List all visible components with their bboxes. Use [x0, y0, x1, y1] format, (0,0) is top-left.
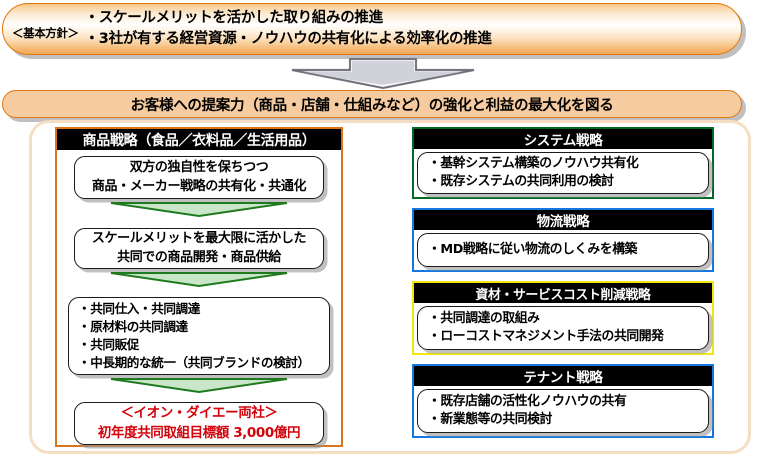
- logistics-strategy-body: ・MD戦略に従い物流のしくみを構築: [414, 230, 712, 270]
- product-strategy-panel: 商品戦略（食品／衣料品／生活用品） 双方の独自性を保ちつつ 商品・メーカー戦略の…: [55, 127, 343, 447]
- basic-policy-bullet-1: ・スケールメリットを活かした取り組みの推進: [85, 9, 741, 28]
- system-strategy-item-2: ・既存システムの共同利用の検討: [428, 173, 708, 191]
- down-arrow-icon: [288, 57, 478, 90]
- diagram-canvas: ＜基本方針＞ ・スケールメリットを活かした取り組みの推進 ・3社が有する経営資源…: [0, 0, 768, 458]
- material-cost-strategy-body: ・共同調達の取組み ・ローコストマネジメント手法の共同開発: [414, 303, 712, 353]
- product-strategy-box-3: ・共同仕入・共同調達 ・原材料の共同調達 ・共同販促 ・中長期的な統一（共同ブラ…: [68, 297, 330, 375]
- product-strategy-box-1-line-1: 双方の独自性を保ちつつ: [130, 159, 269, 177]
- system-strategy-body: ・基幹システム構築のノウハウ共有化 ・既存システムの共同利用の検討: [414, 149, 712, 197]
- goal-banner-text: お客様への提案力（商品・店舗・仕組みなど）の強化と利益の最大化を図る: [131, 94, 614, 115]
- joint-target-box: ＜イオン・ダイエー両社＞ 初年度共同取組目標額 3,000億円: [74, 402, 324, 445]
- system-strategy-item-1: ・基幹システム構築のノウハウ共有化: [428, 155, 708, 173]
- system-strategy-header: システム戦略: [414, 129, 712, 149]
- tenant-strategy-box: テナント戦略 ・既存店舗の活性化ノウハウの共有 ・新業態等の共同検討: [412, 364, 714, 438]
- green-down-arrow-icon-2: [109, 272, 289, 287]
- joint-target-companies: ＜イオン・ダイエー両社＞: [120, 404, 277, 424]
- logistics-strategy-box: 物流戦略 ・MD戦略に従い物流のしくみを構築: [412, 208, 714, 272]
- goal-banner: お客様への提案力（商品・店舗・仕組みなど）の強化と利益の最大化を図る: [2, 90, 742, 118]
- product-strategy-box-3-item-2: ・原材料の共同調達: [78, 318, 329, 336]
- tenant-strategy-list: ・既存店舗の活性化ノウハウの共有 ・新業態等の共同検討: [417, 389, 709, 433]
- product-strategy-header: 商品戦略（食品／衣料品／生活用品）: [57, 129, 341, 150]
- product-strategy-box-2-line-1: スケールメリットを最大限に活かした: [92, 230, 306, 248]
- product-strategy-box-2-line-2: 共同での商品開発・商品供給: [117, 249, 281, 267]
- system-strategy-box: システム戦略 ・基幹システム構築のノウハウ共有化 ・既存システムの共同利用の検討: [412, 127, 714, 199]
- support-strategy-panel: システム戦略 ・基幹システム構築のノウハウ共有化 ・既存システムの共同利用の検討…: [412, 127, 714, 438]
- product-strategy-box-1-line-2: 商品・メーカー戦略の共有化・共通化: [92, 178, 306, 196]
- logistics-strategy-header: 物流戦略: [414, 210, 712, 230]
- system-strategy-list: ・基幹システム構築のノウハウ共有化 ・既存システムの共同利用の検討: [417, 152, 709, 194]
- product-strategy-box-1: 双方の独自性を保ちつつ 商品・メーカー戦略の共有化・共通化: [74, 156, 324, 199]
- material-cost-strategy-header: 資材・サービスコスト削減戦略: [414, 283, 712, 303]
- basic-policy-banner: ＜基本方針＞ ・スケールメリットを活かした取り組みの推進 ・3社が有する経営資源…: [2, 3, 742, 55]
- tenant-strategy-body: ・既存店舗の活性化ノウハウの共有 ・新業態等の共同検討: [414, 386, 712, 436]
- product-strategy-box-3-item-3: ・共同販促: [78, 336, 329, 354]
- tenant-strategy-item-1: ・既存店舗の活性化ノウハウの共有: [428, 393, 708, 411]
- material-cost-strategy-list: ・共同調達の取組み ・ローコストマネジメント手法の共同開発: [417, 306, 709, 350]
- green-down-arrow-icon-1: [109, 202, 289, 217]
- basic-policy-tag: ＜基本方針＞: [3, 25, 79, 54]
- basic-policy-bullet-2: ・3社が有する経営資源・ノウハウの共有化による効率化の推進: [85, 30, 741, 49]
- product-strategy-box-3-item-4: ・中長期的な統一（共同ブランドの検討）: [78, 354, 329, 372]
- logistics-strategy-list: ・MD戦略に従い物流のしくみを構築: [417, 233, 709, 267]
- logistics-strategy-item-1: ・MD戦略に従い物流のしくみを構築: [428, 241, 708, 259]
- tenant-strategy-header: テナント戦略: [414, 366, 712, 386]
- product-strategy-box-2: スケールメリットを最大限に活かした 共同での商品開発・商品供給: [74, 228, 324, 269]
- product-strategy-box-3-item-1: ・共同仕入・共同調達: [78, 300, 329, 318]
- material-cost-strategy-box: 資材・サービスコスト削減戦略 ・共同調達の取組み ・ローコストマネジメント手法の…: [412, 281, 714, 355]
- material-cost-strategy-item-1: ・共同調達の取組み: [428, 310, 708, 328]
- joint-target-amount: 初年度共同取組目標額 3,000億円: [98, 424, 300, 444]
- tenant-strategy-item-2: ・新業態等の共同検討: [428, 411, 708, 429]
- basic-policy-bullets: ・スケールメリットを活かした取り組みの推進 ・3社が有する経営資源・ノウハウの共…: [79, 9, 741, 48]
- material-cost-strategy-item-2: ・ローコストマネジメント手法の共同開発: [428, 328, 708, 346]
- green-down-arrow-icon-3: [109, 378, 289, 393]
